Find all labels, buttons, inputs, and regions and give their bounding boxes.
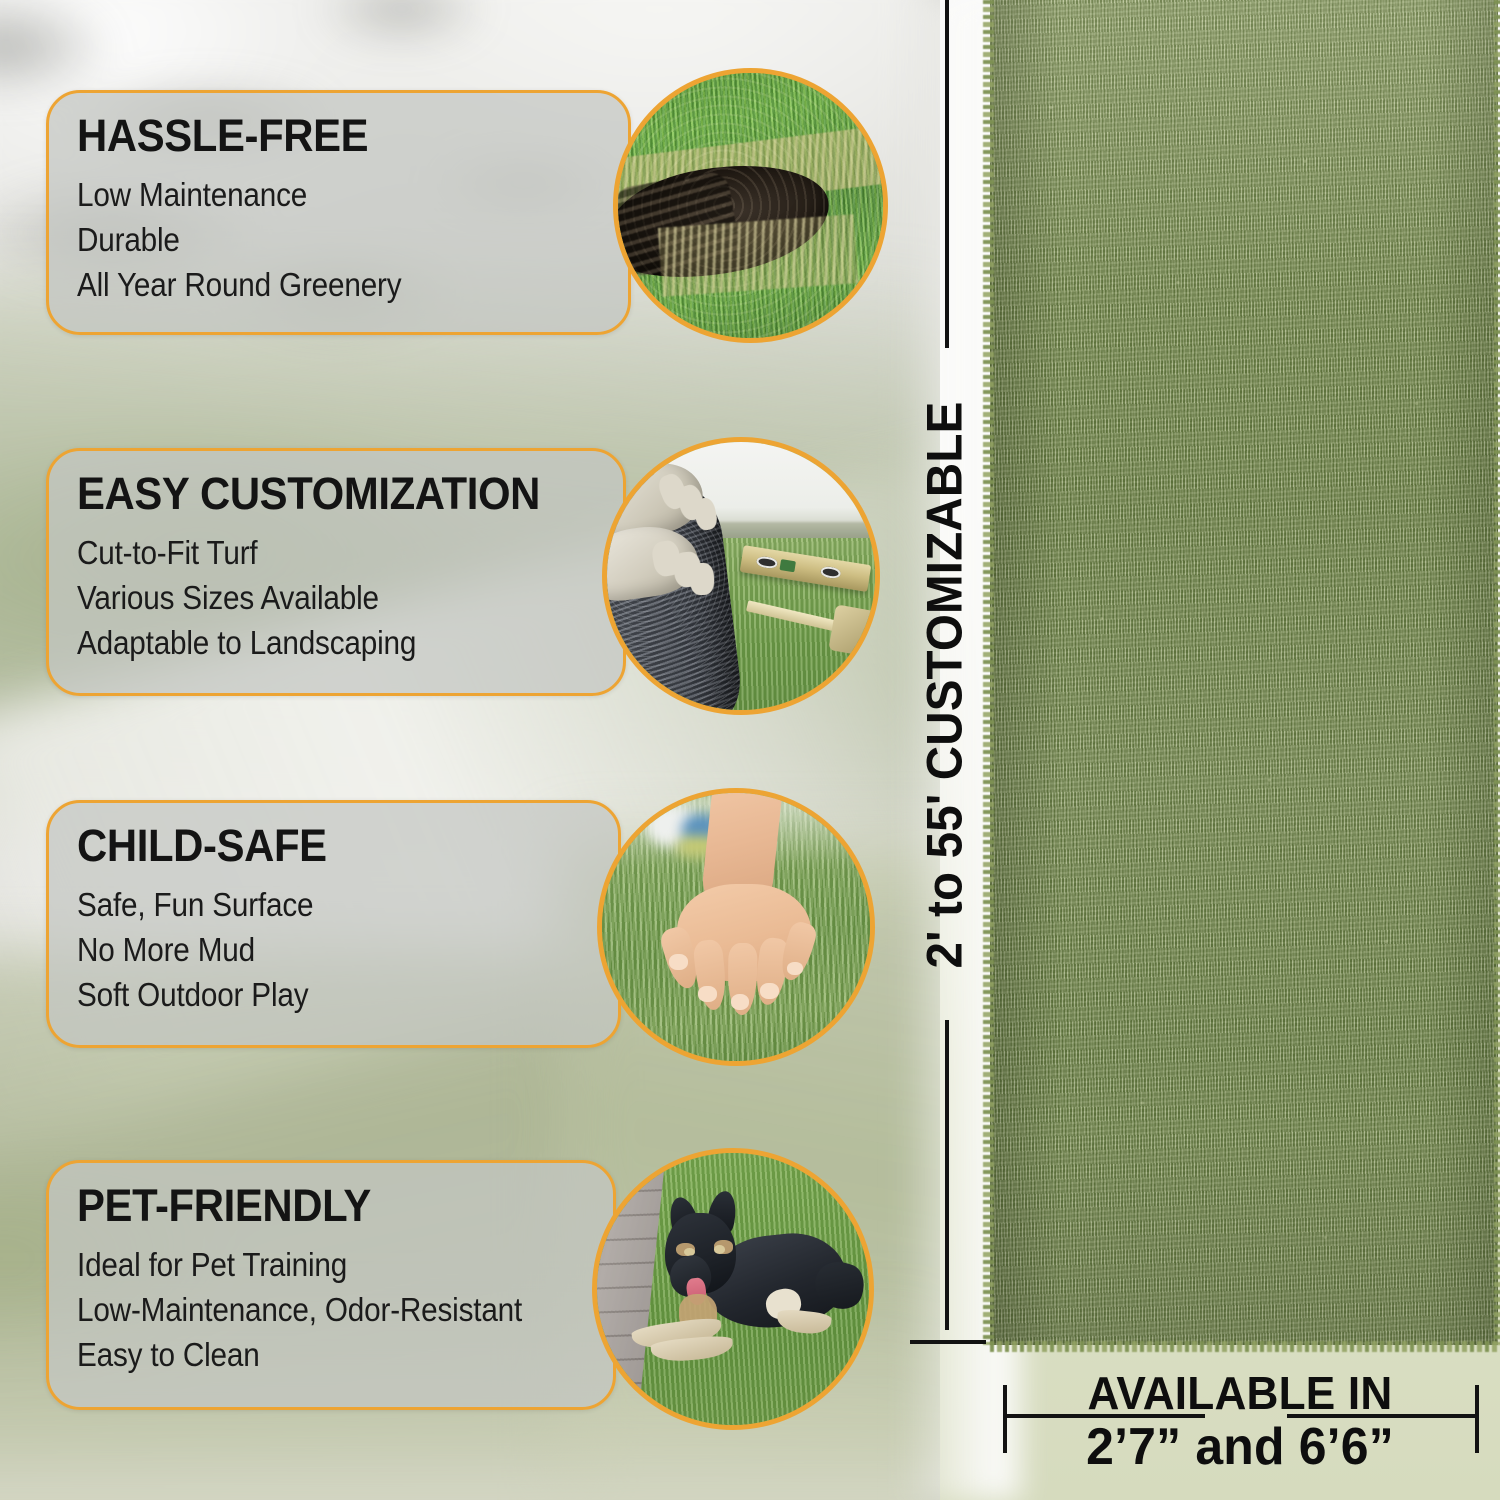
length-dimension-line-bottom <box>945 1020 949 1330</box>
length-dimension-end-cap <box>910 1340 986 1344</box>
length-dimension-line-top <box>945 0 949 348</box>
width-values: 2’7” and 6’6” <box>1010 1420 1471 1474</box>
length-dimension-label: 2' to 55' CUSTOMIZABLE <box>913 365 975 1005</box>
width-dimension-label: AVAILABLE IN 2’7” and 6’6” <box>1000 1370 1480 1474</box>
measurement-annotations: 2' to 55' CUSTOMIZABLE AVAILABLE IN 2’7”… <box>0 0 1500 1500</box>
width-heading: AVAILABLE IN <box>1010 1370 1471 1416</box>
